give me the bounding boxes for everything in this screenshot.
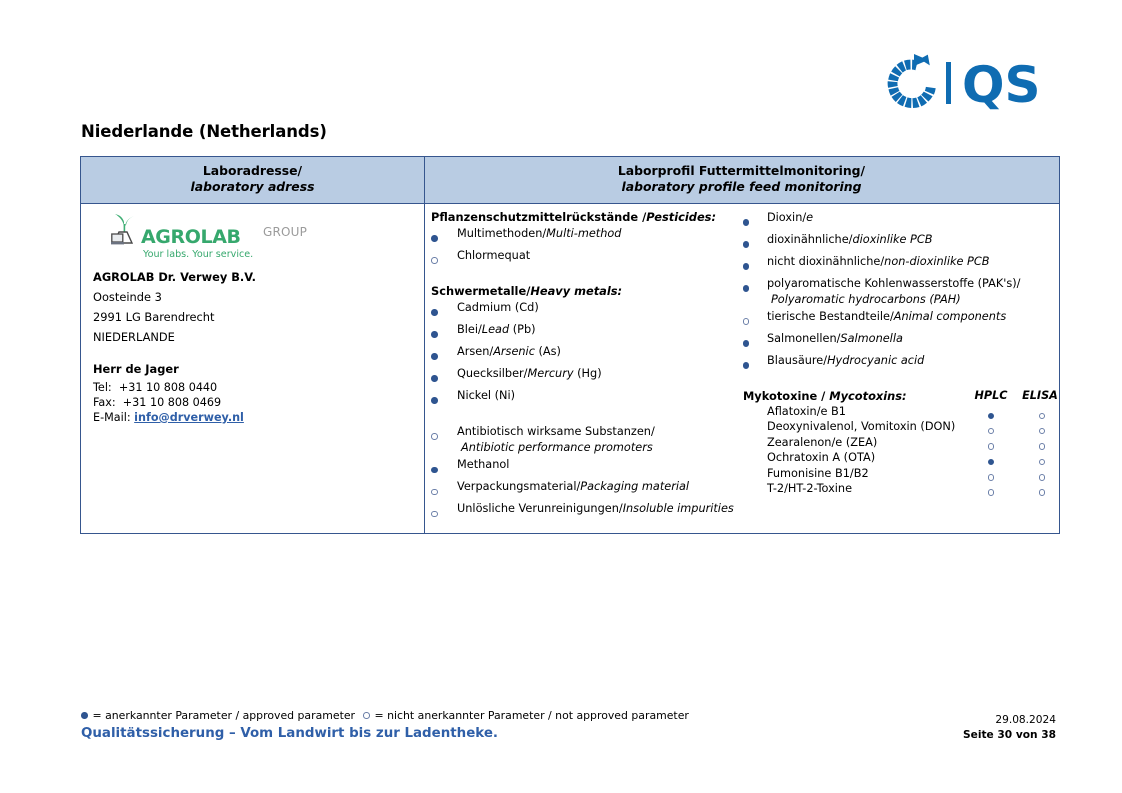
contact-person: Herr de Jager [93,362,414,376]
spacer [431,270,743,284]
page-title: Niederlande (Netherlands) [81,122,327,141]
laboratory-address-cell: AGROLAB GROUP Your labs. Your service. A… [81,204,425,533]
list-item: dioxinähnliche/dioxinlike PCB [743,232,1050,253]
status-dot-approved [431,300,457,321]
spacer [431,410,743,424]
param-label-en: Mercury [528,367,574,380]
contact-email-row: E-Mail: info@drverwey.nl [93,411,414,424]
param-label-de: Dioxin/ [767,211,806,224]
status-dot-not-approved [431,501,457,522]
lab-country: NIEDERLANDE [93,330,414,344]
column-header-laboratory-profile: Laborprofil Futtermittelmonitoring/ labo… [425,157,1058,203]
lab-city: 2991 LG Barendrecht [93,310,414,324]
status-dot-not-approved [1020,486,1064,499]
qs-circular-arrow-icon [888,54,936,108]
table-row: T-2/HT-2-Toxine [743,482,1050,497]
param-label-de: Cadmium (Cd) [457,300,743,316]
laboratory-table: Laboradresse/ laboratory adress Laborpro… [80,156,1060,534]
param-label-en: Salmonella [840,332,902,345]
heavy-metals-title-en: Heavy metals: [530,284,622,298]
param-label-de: Arsen/ [457,345,493,358]
qs-logo: QS [884,52,1060,114]
param-label-de: polyaromatische Kohlenwasserstoffe (PAK'… [767,277,1021,290]
spacer [743,375,1050,389]
section-title-heavy-metals: Schwermetalle/Heavy metals: [431,284,743,298]
column-header-elisa: ELISA [1018,389,1062,402]
param-label-en: Polyaromatic hydrocarbons (PAH) [767,292,1050,308]
list-item: polyaromatische Kohlenwasserstoffe (PAK'… [743,276,1050,308]
param-label-de: Methanol [457,457,743,473]
list-item: Multimethoden/Multi-method [431,226,743,247]
param-label-en: Animal components [894,310,1006,323]
footer-page-number: Seite 30 von 38 [963,729,1056,741]
heavy-metals-title-de: Schwermetalle/ [431,284,530,298]
agrolab-logo: AGROLAB GROUP Your labs. Your service. [111,212,414,264]
param-label-de: Unlösliche Verunreinigungen/ [457,502,623,515]
phone-label: Tel: [93,381,112,394]
header-right-en: laboratory profile feed monitoring [429,179,1054,195]
list-item: Cadmium (Cd) [431,300,743,321]
param-label-en: dioxinlike PCB [852,233,932,246]
list-item: Nickel (Ni) [431,388,743,409]
table-row: Deoxynivalenol, Vomitoxin (DON) [743,420,1050,435]
param-label-de: Blausäure/ [767,354,827,367]
legend-dot-not-approved [363,712,370,719]
table-header-row: Laboradresse/ laboratory adress Laborpro… [81,157,1059,204]
param-label-suffix: (Pb) [509,323,535,336]
status-dot-approved [431,366,457,387]
status-dot-not-approved [971,486,1011,499]
param-label-en: Lead [482,323,509,336]
fax-value: +31 10 808 0469 [123,396,221,409]
mycotoxin-name: Ochratoxin A (OTA) [743,451,875,464]
status-dot-approved [743,353,767,374]
contact-fax-row: Fax: +31 10 808 0469 [93,396,414,409]
email-label: E-Mail: [93,411,131,424]
section-title-pesticides: Pflanzenschutzmittelrückstände /Pesticid… [431,210,743,224]
param-label-en: Antibiotic performance promoters [457,440,743,456]
legend-text-approved: = anerkannter Parameter / approved param… [93,709,356,722]
status-dot-approved [431,322,457,343]
param-label-suffix: (As) [535,345,561,358]
status-dot-approved [431,457,457,478]
status-dot-not-approved [431,248,457,269]
column-header-laboratory-address: Laboradresse/ laboratory adress [81,157,425,203]
table-row: Aflatoxin/e B1 [743,405,1050,420]
param-label-en: non-dioxinlike PCB [884,255,989,268]
param-label-de: Nickel (Ni) [457,388,743,404]
status-dot-approved [743,210,767,231]
qs-logo-text: QS [962,56,1041,114]
list-item: Chlormequat [431,248,743,269]
table-row: Zearalenon/e (ZEA) [743,436,1050,451]
mycotoxin-name: T-2/HT-2-Toxine [743,482,852,495]
footer-date: 29.08.2024 [995,714,1056,726]
agrolab-group-label: GROUP [263,225,307,239]
laboratory-profile-cell: Pflanzenschutzmittelrückstände /Pesticid… [425,204,1058,533]
list-item: Verpackungsmaterial/Packaging material [431,479,743,500]
footer-slogan: Qualitätssicherung – Vom Landwirt bis zu… [81,726,498,741]
mycotoxins-title-de: Mykotoxine / [743,389,829,403]
param-label-de: Chlormequat [457,248,743,264]
parameter-column-right: Dioxin/e dioxinähnliche/dioxinlike PCB n… [743,210,1050,523]
list-item: Quecksilber/Mercury (Hg) [431,366,743,387]
legend-text-not-approved: = nicht anerkannter Parameter / not appr… [375,709,689,722]
table-body-row: AGROLAB GROUP Your labs. Your service. A… [81,204,1059,533]
agrolab-wordmark: AGROLAB [141,226,241,248]
mycotoxins-title-en: Mycotoxins: [829,389,906,403]
list-item: tierische Bestandteile/Animal components [743,309,1050,330]
lab-name: AGROLAB Dr. Verwey B.V. [93,270,414,284]
email-link[interactable]: info@drverwey.nl [134,411,244,424]
status-dot-approved [431,388,457,409]
footer-legend: = anerkannter Parameter / approved param… [81,709,689,722]
param-label-de: Quecksilber/ [457,367,528,380]
param-label-de: Blei/ [457,323,482,336]
status-dot-approved [743,254,767,275]
pesticides-title-de: Pflanzenschutzmittelrückstände / [431,210,646,224]
status-dot-not-approved [431,424,457,445]
status-dot-not-approved [743,309,767,330]
status-dot-approved [431,226,457,247]
header-left-de: Laboradresse/ [203,163,302,178]
status-dot-approved [431,344,457,365]
list-item: Dioxin/e [743,210,1050,231]
param-label-en: e [806,211,813,224]
status-dot-approved [743,276,767,297]
param-label-suffix: (Hg) [574,367,602,380]
table-row: Fumonisine B1/B2 [743,467,1050,482]
param-label-de: Multimethoden/ [457,227,546,240]
status-dot-approved [743,232,767,253]
phone-value: +31 10 808 0440 [119,381,217,394]
section-title-mycotoxins: Mykotoxine / Mycotoxins: HPLC ELISA [743,389,1050,405]
param-label-de: nicht dioxinähnliche/ [767,255,884,268]
table-row: Ochratoxin A (OTA) [743,451,1050,466]
mycotoxin-name: Aflatoxin/e B1 [743,405,846,418]
param-label-en: Arsenic [493,345,535,358]
param-label-de: Salmonellen/ [767,332,840,345]
mycotoxin-name: Zearalenon/e (ZEA) [743,436,877,449]
list-item: nicht dioxinähnliche/non-dioxinlike PCB [743,254,1050,275]
contact-phone-row: Tel: +31 10 808 0440 [93,381,414,394]
list-item: Blei/Lead (Pb) [431,322,743,343]
status-dot-not-approved [431,479,457,500]
parameter-column-left: Pflanzenschutzmittelrückstände /Pesticid… [431,210,743,523]
logo-divider [946,62,951,104]
pesticides-title-en: Pesticides: [646,210,716,224]
param-label-de: Verpackungsmaterial/ [457,480,580,493]
list-item: Unlösliche Verunreinigungen/Insoluble im… [431,501,743,522]
fax-label: Fax: [93,396,116,409]
param-label-en: Multi-method [546,227,621,240]
param-label-en: Hydrocyanic acid [827,354,924,367]
list-item: Methanol [431,457,743,478]
param-label-en: Insoluble impurities [623,502,734,515]
list-item: Arsen/Arsenic (As) [431,344,743,365]
header-right-de: Laborprofil Futtermittelmonitoring/ [618,163,865,178]
status-dot-approved [743,331,767,352]
param-label-de: tierische Bestandteile/ [767,310,894,323]
lab-street: Oosteinde 3 [93,290,414,304]
mycotoxin-name: Fumonisine B1/B2 [743,467,869,480]
list-item: Antibiotisch wirksame Substanzen/Antibio… [431,424,743,456]
list-item: Salmonellen/Salmonella [743,331,1050,352]
list-item: Blausäure/Hydrocyanic acid [743,353,1050,374]
agrolab-plant-flask-icon [111,212,139,246]
param-label-en: Packaging material [580,480,689,493]
column-header-hplc: HPLC [971,389,1011,402]
param-label-de: Antibiotisch wirksame Substanzen/ [457,425,655,438]
param-label-de: dioxinähnliche/ [767,233,853,246]
mycotoxin-name: Deoxynivalenol, Vomitoxin (DON) [743,420,955,433]
agrolab-tagline: Your labs. Your service. [143,249,253,260]
header-left-en: laboratory adress [85,179,420,195]
legend-dot-approved [81,712,88,719]
